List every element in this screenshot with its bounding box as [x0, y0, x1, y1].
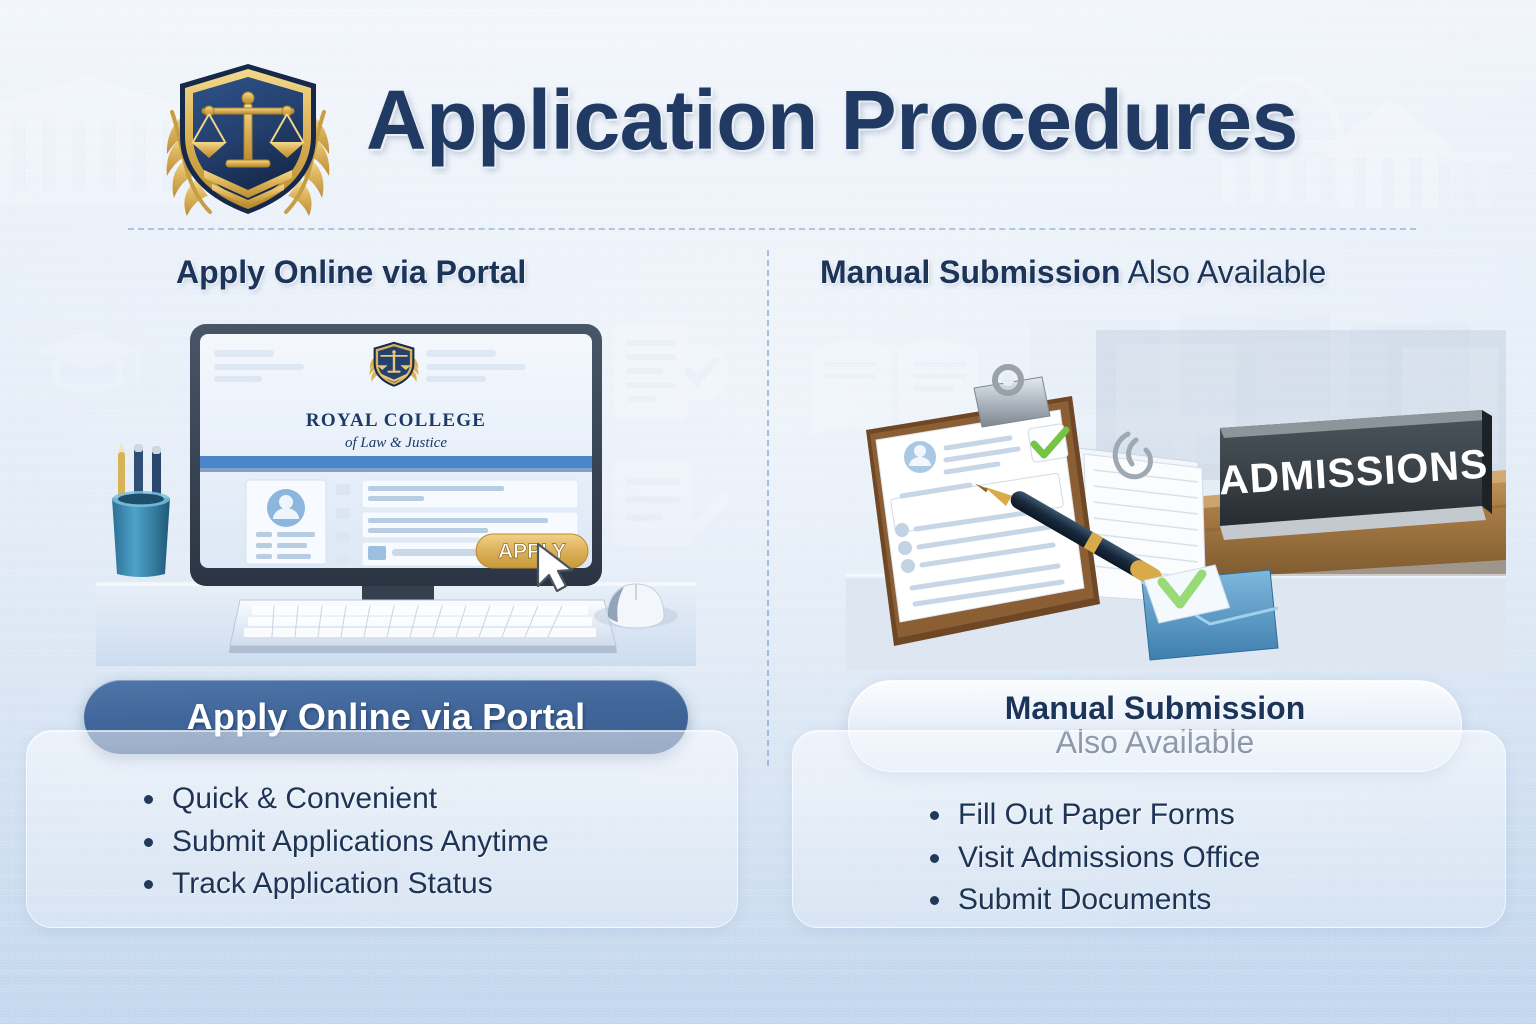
- bullet-list-right: Fill Out Paper Forms Visit Admissions Of…: [958, 794, 1260, 922]
- list-item-label: Track Application Status: [172, 867, 493, 900]
- list-item-label: Submit Applications Anytime: [172, 825, 549, 858]
- column-heading-right-bold: Manual Submission: [820, 254, 1120, 290]
- list-item-label: Fill Out Paper Forms: [958, 798, 1235, 831]
- list-item-label: Quick & Convenient: [172, 782, 437, 815]
- column-heading-right: Manual Submission Also Available: [820, 254, 1326, 291]
- apply-button: APPLY: [476, 534, 588, 568]
- banner-pill-right-label: Manual Submission: [1005, 691, 1305, 726]
- infographic-canvas: Application Procedures Apply Online via …: [0, 0, 1536, 1024]
- shield-scales-laurel-icon: [148, 58, 348, 218]
- pen-cup: [112, 442, 170, 577]
- list-item: Visit Admissions Office: [958, 837, 1260, 880]
- list-item: Quick & Convenient: [172, 778, 549, 821]
- bullet-list-left: Quick & Convenient Submit Applications A…: [172, 778, 549, 906]
- envelope: [1142, 564, 1278, 660]
- monitor: ROYAL COLLEGE of Law & Justice: [190, 324, 602, 624]
- column-heading-right-regular: Also Available: [1128, 254, 1327, 290]
- bullet-dot-icon: [144, 838, 153, 847]
- column-heading-left-text: Apply Online via Portal: [176, 254, 526, 290]
- list-item-label: Visit Admissions Office: [958, 841, 1260, 874]
- header: Application Procedures: [0, 0, 1536, 226]
- screen-org-subtitle: of Law & Justice: [345, 435, 447, 451]
- list-item: Submit Documents: [958, 879, 1260, 922]
- list-item: Submit Applications Anytime: [172, 821, 549, 864]
- list-item-label: Submit Documents: [958, 883, 1211, 916]
- list-item: Fill Out Paper Forms: [958, 794, 1260, 837]
- page-title: Application Procedures: [366, 78, 1298, 162]
- desktop-computer-portal-illustration: ROYAL COLLEGE of Law & Justice: [96, 316, 696, 666]
- clipboard: [866, 367, 1100, 646]
- clipboard-clip: [974, 367, 1050, 427]
- bullet-dot-icon: [930, 854, 939, 863]
- list-item: Track Application Status: [172, 863, 549, 906]
- keyboard: [229, 600, 617, 653]
- column-heading-left: Apply Online via Portal: [176, 254, 526, 291]
- column-divider: [767, 250, 769, 766]
- admissions-sign: ADMISSIONS: [1217, 410, 1492, 540]
- screen-org-name: ROYAL COLLEGE: [306, 410, 486, 431]
- header-divider: [128, 228, 1416, 230]
- clipboard-admissions-desk-illustration: ADMISSIONS: [846, 330, 1506, 670]
